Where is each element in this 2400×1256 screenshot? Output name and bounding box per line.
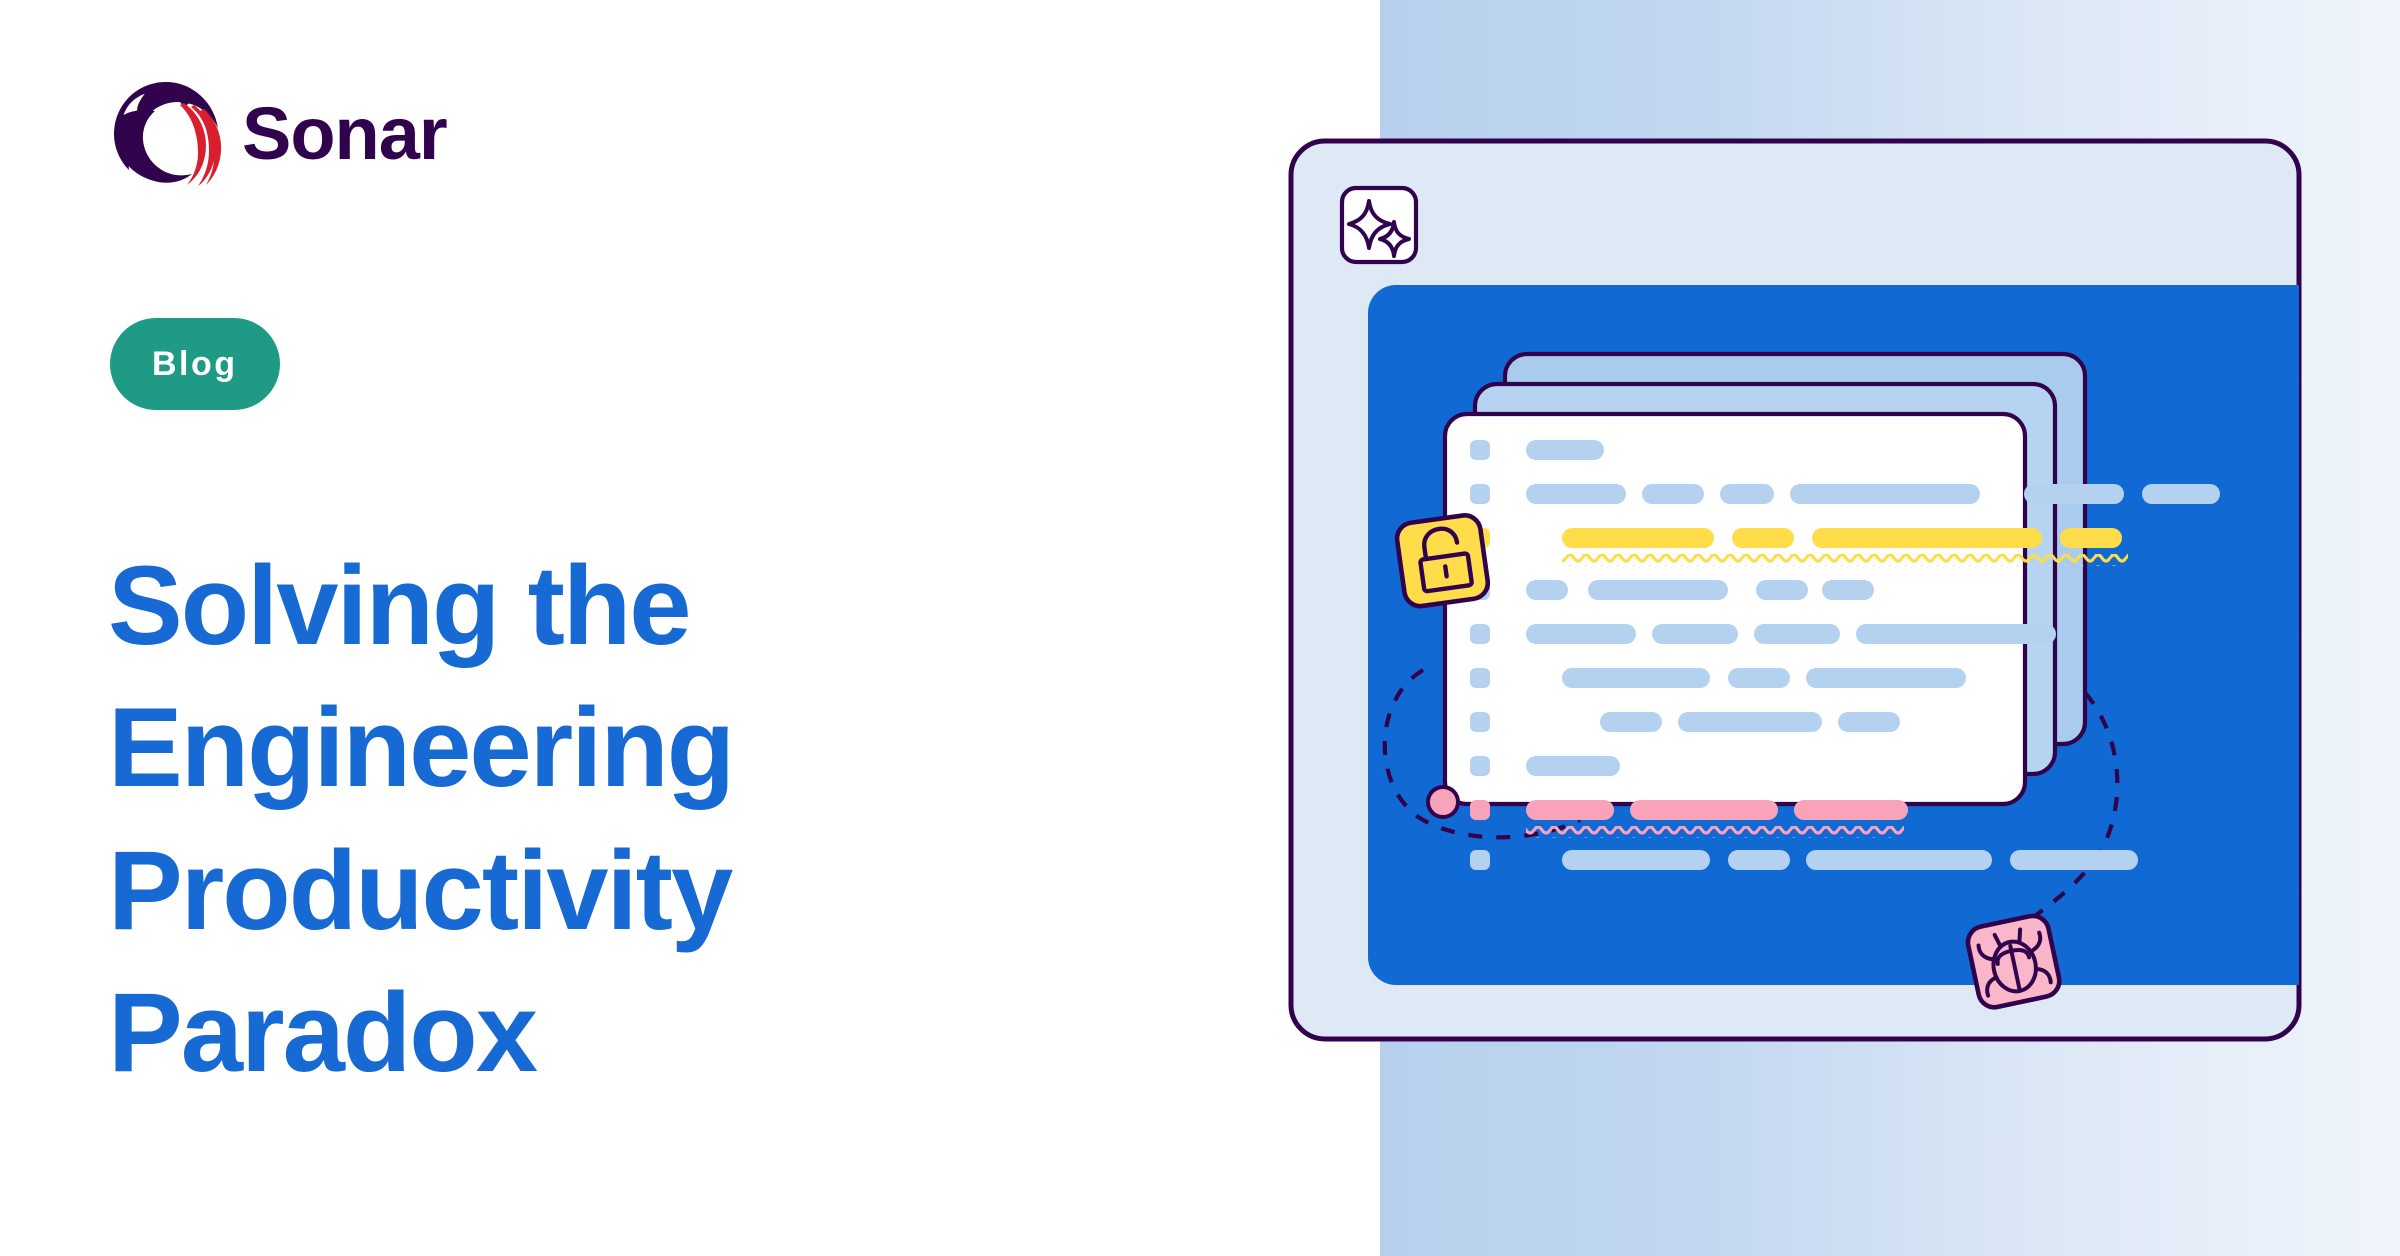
- page-title-line-3: Productivity: [108, 820, 1108, 962]
- bug-badge: [1965, 913, 2062, 1010]
- page-title-line-2: Engineering: [108, 677, 1108, 819]
- code-line-error: [1470, 800, 1908, 838]
- squiggle-underline-pink: [1526, 826, 1904, 838]
- code-card-front: [1445, 414, 2025, 804]
- status-badge[interactable]: Blog: [110, 318, 280, 410]
- sonar-logo[interactable]: Sonar: [110, 78, 447, 190]
- code-line: [1470, 624, 2056, 644]
- lock-badge: [1395, 513, 1490, 608]
- page-root: Sonar Blog Solving the Engineering Produ…: [0, 0, 2400, 1256]
- code-line: [1470, 484, 2220, 504]
- page-title-line-1: Solving the: [108, 535, 1108, 677]
- left-content-column: Sonar Blog Solving the Engineering Produ…: [0, 0, 1380, 1256]
- sonar-logo-icon: [110, 78, 222, 190]
- sonar-logo-text: Sonar: [242, 97, 447, 171]
- badge-label: Blog: [152, 345, 238, 384]
- code-review-illustration: [1280, 130, 2310, 1150]
- issue-marker-dot: [1428, 787, 1458, 817]
- page-title: Solving the Engineering Productivity Par…: [108, 535, 1108, 1104]
- page-title-line-4: Paradox: [108, 962, 1108, 1104]
- squiggle-underline-yellow: [1562, 554, 2128, 566]
- sparkle-badge: [1342, 188, 1416, 262]
